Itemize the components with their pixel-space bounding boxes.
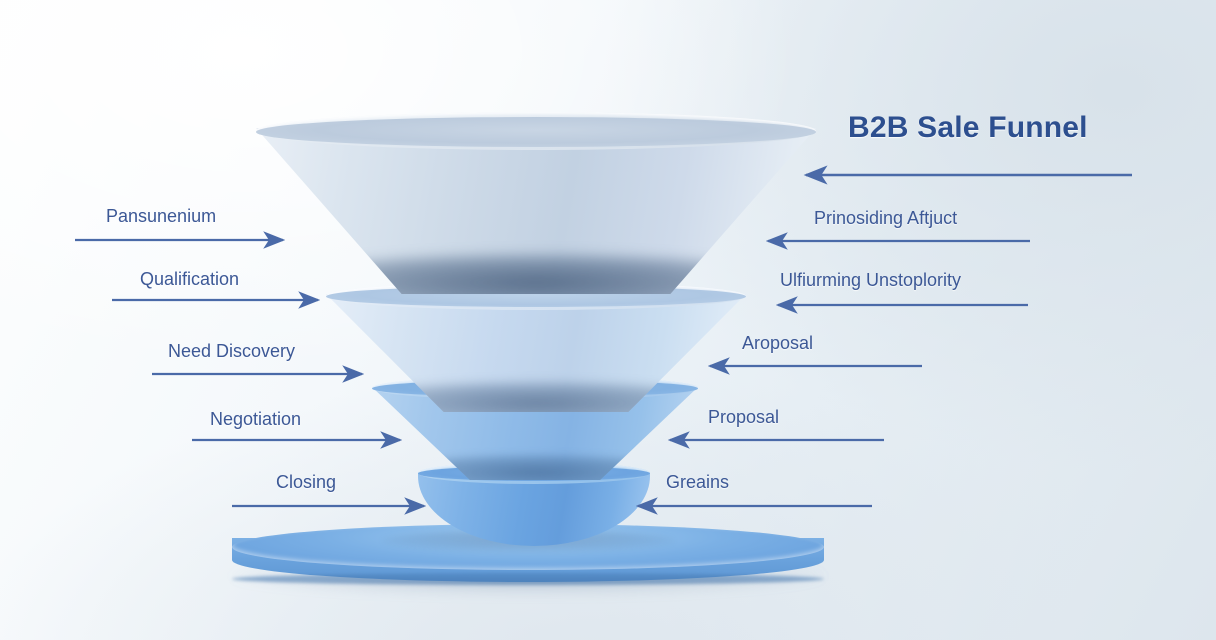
funnel-illustration-canvas: B2B Sale Funnel Pansunenium Qualificatio… — [0, 0, 1216, 640]
annotation-arrows — [0, 0, 1216, 640]
